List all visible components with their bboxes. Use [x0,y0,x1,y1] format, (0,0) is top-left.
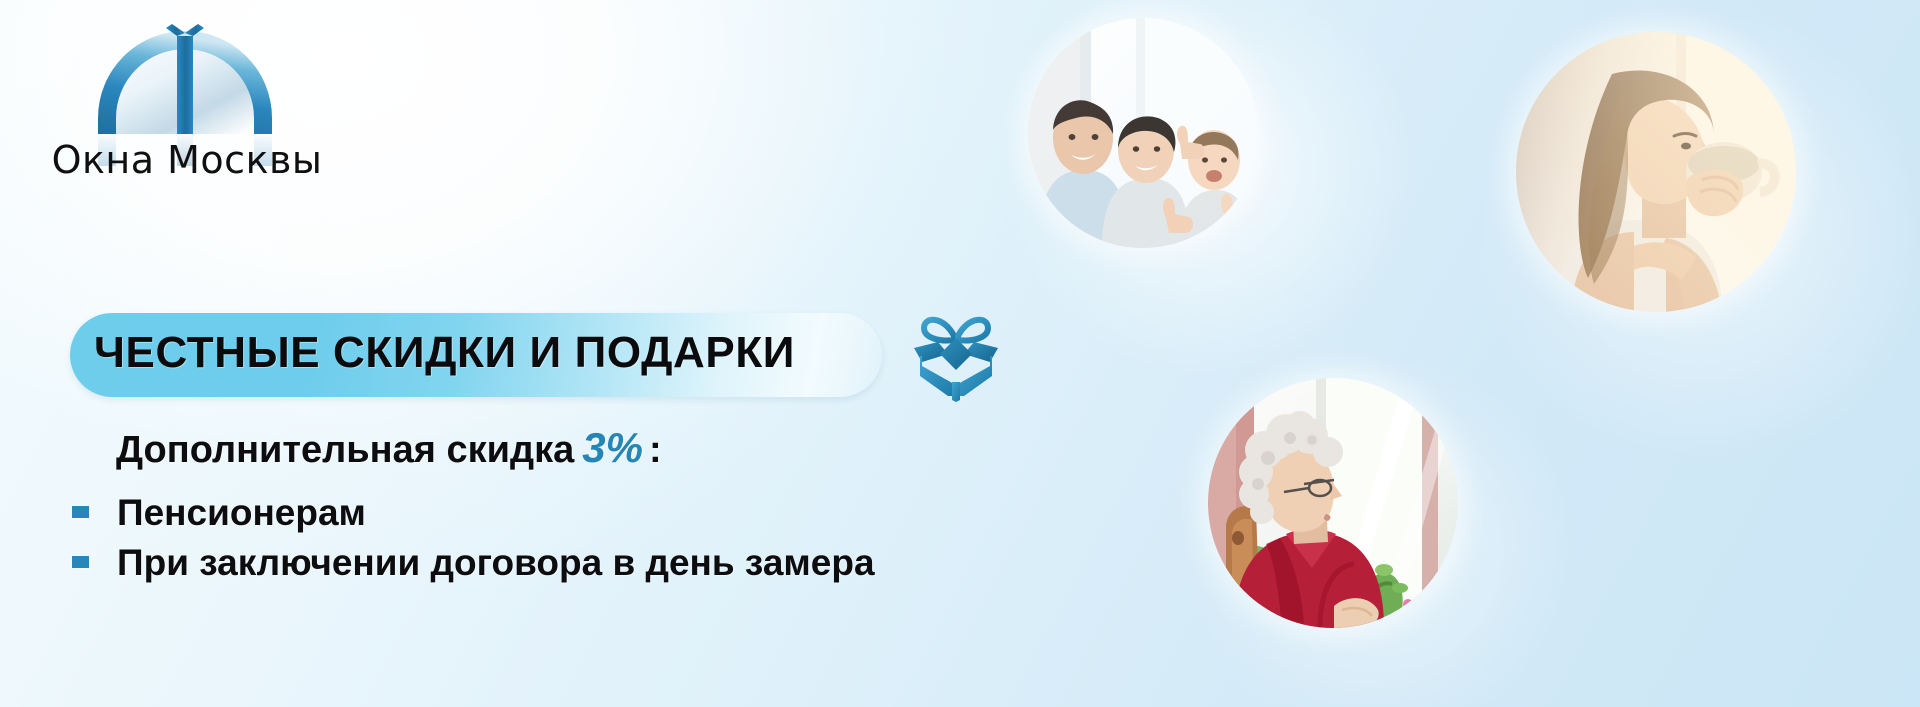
photo-elderly [1208,378,1458,628]
discount-prefix: Дополнительная скидка [116,429,574,471]
discount-value: 3% [574,424,645,472]
brand-name: Окна Москвы [22,138,352,182]
discount-line: Дополнительная скидка3%: [116,424,662,472]
promo-banner: Окна Москвы ЧЕСТНЫЕ СКИДКИ И ПОДАРКИ [0,0,1920,707]
discount-colon: : [645,429,662,471]
list-item: Пенсионерам [72,492,892,536]
brand-logo[interactable]: Окна Москвы [22,14,352,184]
window-arch-icon [80,14,290,134]
headline-row: ЧЕСТНЫЕ СКИДКИ И ПОДАРКИ [70,310,990,406]
gift-box-icon [908,310,1004,402]
conditions-list: Пенсионерам При заключении договора в де… [72,492,892,592]
condition-label: При заключении договора в день замера [117,542,875,584]
condition-label: Пенсионерам [117,492,366,534]
photo-woman [1516,32,1796,312]
headline-title: ЧЕСТНЫЕ СКИДКИ И ПОДАРКИ [94,328,795,378]
list-item: При заключении договора в день замера [72,542,892,586]
photo-family [1028,18,1258,248]
bullet-square-icon [72,506,89,518]
bullet-square-icon [72,556,89,568]
